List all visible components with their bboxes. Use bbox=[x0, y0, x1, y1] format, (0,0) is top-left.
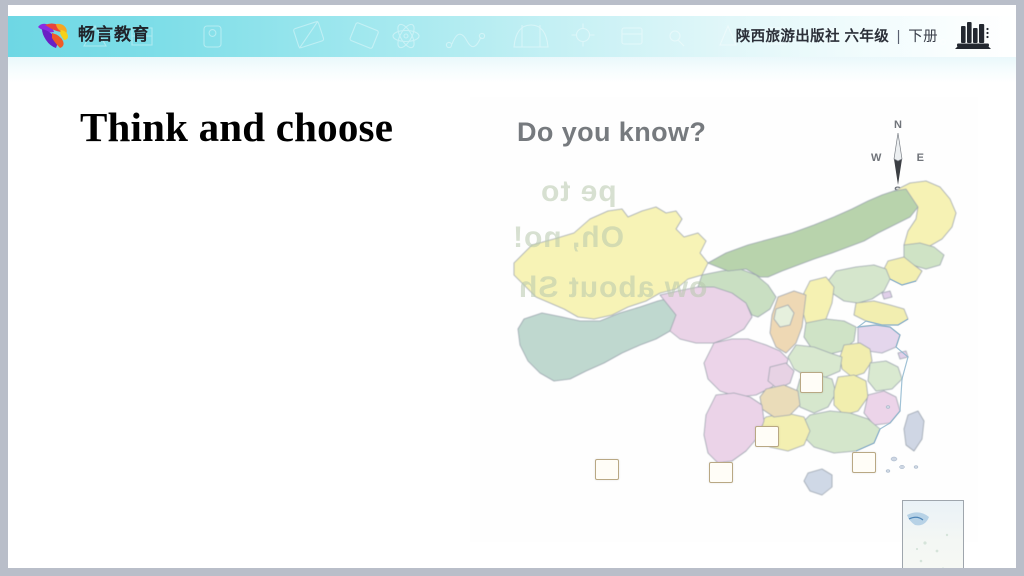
answer-box-3[interactable] bbox=[852, 452, 876, 473]
header-glow bbox=[8, 57, 1016, 83]
slide-frame: 畅言教育 陕西旅游出版社 六年级 | 下册 bbox=[0, 0, 1024, 576]
bird-logo-icon bbox=[36, 21, 70, 51]
china-map-svg bbox=[470, 167, 978, 542]
china-map: pe to Oh, no! ow about Sh bbox=[470, 167, 978, 542]
publisher-info: 陕西旅游出版社 六年级 | 下册 bbox=[736, 25, 938, 46]
south-china-sea-inset: 南海诸岛 bbox=[902, 500, 964, 568]
figure-heading: Do you know? bbox=[517, 117, 706, 148]
publisher-name: 陕西旅游出版社 bbox=[736, 29, 840, 45]
book-stack-icon bbox=[954, 18, 992, 50]
answer-box-5[interactable] bbox=[595, 459, 619, 480]
brand-name: 畅言教育 bbox=[78, 24, 150, 46]
grade-label: 六年级 bbox=[844, 29, 889, 45]
info-separator: | bbox=[897, 29, 901, 45]
answer-box-4[interactable] bbox=[709, 462, 733, 483]
answer-box-2[interactable] bbox=[755, 426, 779, 447]
page-title: Think and choose bbox=[80, 103, 393, 151]
volume-label: 下册 bbox=[908, 29, 938, 45]
textbook-figure: Do you know? N S W E bbox=[470, 97, 978, 542]
slide-page: 畅言教育 陕西旅游出版社 六年级 | 下册 bbox=[8, 5, 1016, 568]
answer-box-1[interactable] bbox=[800, 372, 823, 393]
